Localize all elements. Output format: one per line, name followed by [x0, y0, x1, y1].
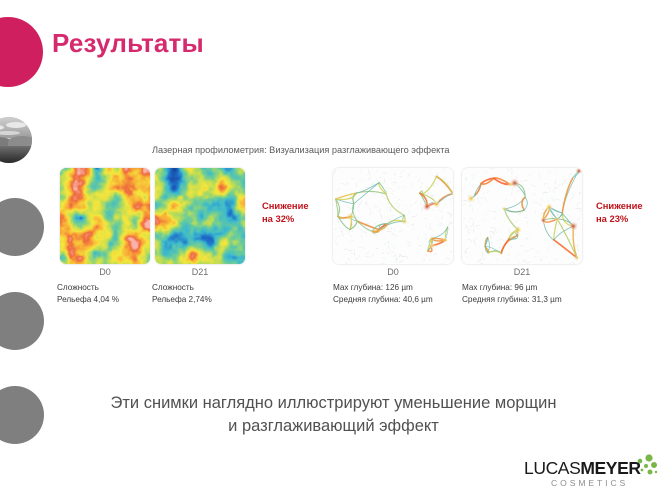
metrics-left-d0: Сложность Рельефа 4,04 %	[57, 282, 152, 306]
heatmap-image-d0	[60, 168, 150, 264]
reduction-callout-left: Снижение на 32%	[262, 200, 324, 225]
section-subtitle: Лазерная профилометрия: Визуализация раз…	[152, 145, 450, 155]
metrics-right-d0: Max глубина: 126 µm Средняя глубина: 40,…	[333, 282, 463, 306]
decorative-gray-circle-3	[0, 386, 44, 444]
network-canvas-d21	[462, 168, 582, 264]
reduction-right-line2: на 23%	[596, 213, 660, 226]
conclusion-text: Эти снимки наглядно иллюстрируют уменьше…	[60, 392, 607, 439]
reduction-right-line1: Снижение	[596, 200, 660, 213]
heatmap-image-d21	[155, 168, 245, 264]
photo-land	[0, 146, 32, 163]
metrics-right-d21: Max глубина: 96 µm Средняя глубина: 31,3…	[462, 282, 592, 306]
reduction-left-line2: на 32%	[262, 213, 324, 226]
conclusion-line-2: и разглаживающий эффект	[60, 415, 607, 438]
caption-day-right-d21: D21	[462, 267, 582, 277]
caption-day-left-d0: D0	[60, 267, 150, 277]
reduction-callout-right: Снижение на 23%	[596, 200, 660, 225]
landscape-photo-circle	[0, 117, 32, 163]
brand-logo: LUCASMEYER COSMETICS	[524, 458, 656, 492]
heatmap-canvas-d0	[60, 168, 150, 264]
network-image-d21	[462, 168, 582, 264]
logo-tagline: COSMETICS	[551, 478, 628, 488]
logo-word-lucas: LUCAS	[524, 458, 580, 478]
network-canvas-d0	[333, 168, 453, 264]
logo-wordmark: LUCASMEYER	[524, 460, 641, 478]
slide-canvas: Результаты Лазерная профилометрия: Визуа…	[0, 0, 667, 500]
decorative-gray-circle-2	[0, 292, 44, 350]
conclusion-line-1: Эти снимки наглядно иллюстрируют уменьше…	[60, 392, 607, 415]
reduction-left-line1: Снижение	[262, 200, 324, 213]
caption-day-left-d21: D21	[155, 267, 245, 277]
caption-day-right-d0: D0	[333, 267, 453, 277]
leaf-dots-icon	[632, 454, 658, 478]
page-title: Результаты	[52, 28, 204, 59]
decorative-gray-circle-1	[0, 198, 44, 256]
decorative-pink-circle	[0, 17, 43, 87]
network-image-d0	[333, 168, 453, 264]
photo-cloud	[6, 122, 26, 128]
heatmap-canvas-d21	[155, 168, 245, 264]
metrics-left-d21: Сложность Рельефа 2,74%	[152, 282, 252, 306]
